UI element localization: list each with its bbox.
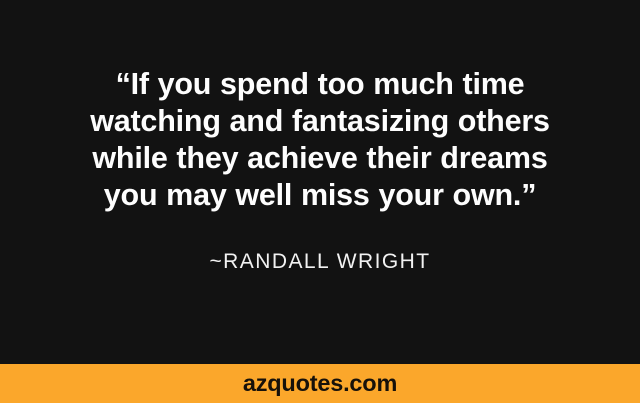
footer-bar: azquotes.com	[0, 364, 640, 403]
quote-body: “If you spend too much time watching and…	[0, 0, 640, 364]
quote-text: “If you spend too much time watching and…	[83, 66, 557, 214]
brand-watermark: azquotes.com	[243, 372, 397, 396]
quote-card: “If you spend too much time watching and…	[0, 0, 640, 403]
quote-attribution: ~RANDALL WRIGHT	[0, 250, 640, 274]
